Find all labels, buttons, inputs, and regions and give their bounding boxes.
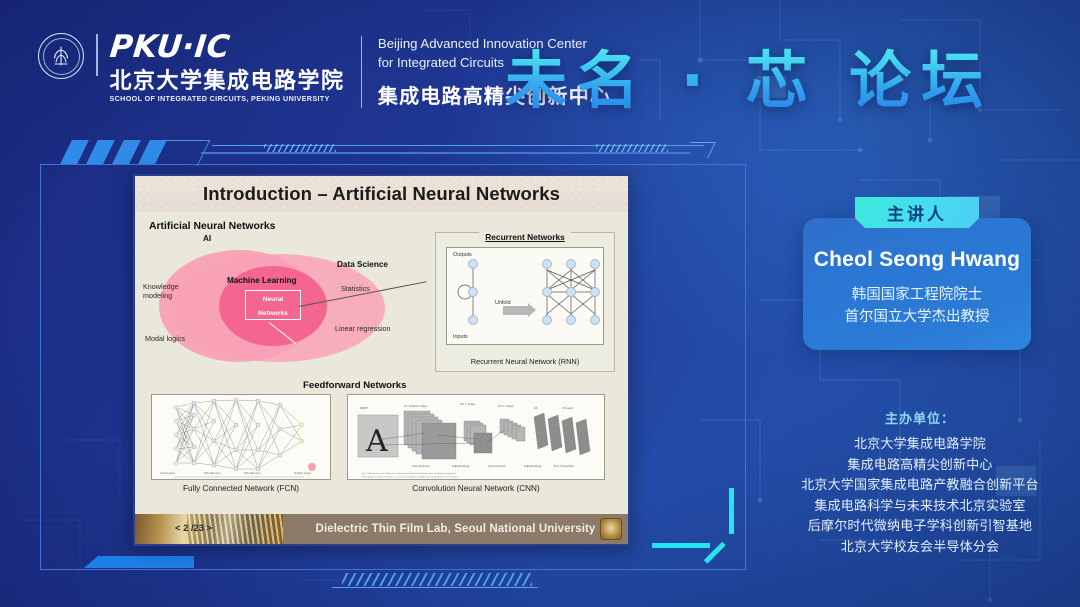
svg-text:Each plane is a feature map, i: Each plane is a feature map, i.e. a set … <box>362 476 459 479</box>
svg-text:Convolutions: Convolutions <box>488 464 506 468</box>
svg-text:500 Neurons: 500 Neurons <box>204 471 221 475</box>
slide-footer-lab-text: Dielectric Thin Film Lab, Seoul National… <box>316 523 596 535</box>
speaker-card: Cheol Seong Hwang 韩国国家工程院院士 首尔国立大学杰出教授 <box>803 218 1031 350</box>
slide-body: Artificial Neural Networks Neural Networ… <box>135 212 628 514</box>
forum-title-block: 未名 · 芯 论坛 <box>505 30 1005 112</box>
speaker-badge-label: 主讲人 <box>887 200 947 225</box>
fcn-caption: Fully Connected Network (FCN) <box>151 484 331 493</box>
snu-seal-icon <box>600 518 622 540</box>
rnn-figure: Outputs Inputs Unfold <box>446 247 604 345</box>
slide-title: Introduction – Artificial Neural Network… <box>203 183 560 205</box>
presentation-slide[interactable]: Introduction – Artificial Neural Network… <box>133 174 630 546</box>
venn-label-knowledge-modeling: Knowledge modeling <box>143 282 179 300</box>
recurrent-panel-title: Recurrent Networks <box>479 232 571 242</box>
svg-text:INPUT: INPUT <box>360 406 368 410</box>
svg-text:Input Layer: Input Layer <box>160 471 176 475</box>
poster-background: PKU·IC 北京大学集成电路学院 SCHOOL OF INTEGRATED C… <box>0 0 1080 607</box>
seal-glyph-icon <box>46 41 76 71</box>
venn-diagram: Neural Networks AI Data Science Machine … <box>141 236 429 366</box>
frame-bottom-hatch-outline <box>332 571 546 588</box>
svg-text:C5 layer: C5 layer <box>562 406 574 410</box>
slide-footer-image: < 2 /23 > <box>135 514 283 544</box>
venn-label-machine-learning: Machine Learning <box>227 276 297 286</box>
venn-label-nn-1: Neural <box>246 291 300 305</box>
svg-text:Subsampling: Subsampling <box>452 464 470 468</box>
cnn-figure: A <box>347 394 605 480</box>
svg-text:Full connection: Full connection <box>554 464 575 468</box>
speaker-name: Cheol Seong Hwang <box>803 248 1031 272</box>
frame-stripe-decoration <box>66 140 162 164</box>
frame-top-line <box>201 152 690 154</box>
frame-corner-bottom-right-accent <box>650 504 750 574</box>
svg-text:500 Neurons: 500 Neurons <box>244 471 261 475</box>
venn-label-modal-logics: Modal logics <box>145 334 185 343</box>
cnn-caption: Convolution Neural Network (CNN) <box>347 484 605 493</box>
forum-title-text: 未名 · 芯 论坛 <box>505 30 1005 120</box>
organizer-item: 北京大学国家集成电路产教融合创新平台 <box>780 475 1060 496</box>
venn-label-ai: AI <box>203 234 211 244</box>
organizers-heading: 主办单位： <box>780 408 1060 427</box>
speaker-titles: 韩国国家工程院院士 首尔国立大学杰出教授 <box>803 284 1031 329</box>
pkuic-brand-cn: 北京大学集成电路学院 <box>110 70 345 92</box>
svg-text:C3: f. maps: C3: f. maps <box>498 404 514 408</box>
svg-text:S2: f. maps: S2: f. maps <box>460 402 476 406</box>
frame-hatch-right <box>596 144 668 152</box>
venn-label-nn-2: Networks <box>246 305 300 319</box>
fcn-graph-svg: Input Layer Output Layer 500 Neurons 500… <box>152 395 330 479</box>
slide-footer-bar: Dielectric Thin Film Lab, Seoul National… <box>283 514 628 544</box>
rnn-graph-svg <box>447 248 607 338</box>
svg-text:Subsampling: Subsampling <box>524 464 542 468</box>
venn-box-neural-networks: Neural Networks <box>245 290 301 320</box>
slide-footer: < 2 /23 > Dielectric Thin Film Lab, Seou… <box>135 514 628 544</box>
svg-text:Fig. 2. Architecture of LeNet: Fig. 2. Architecture of LeNet-5, a Convo… <box>362 472 457 475</box>
cnn-graph-svg: A <box>348 395 604 479</box>
rnn-caption: Recurrent Neural Network (RNN) <box>436 357 614 366</box>
frame-hatch-left <box>264 144 336 152</box>
slide-title-band: Introduction – Artificial Neural Network… <box>135 176 628 212</box>
peking-university-seal-icon <box>38 33 84 79</box>
pkuic-brand-main: PKU·IC <box>108 32 346 63</box>
poster-header: PKU·IC 北京大学集成电路学院 SCHOOL OF INTEGRATED C… <box>0 0 1080 130</box>
venn-label-statistics: Statistics <box>341 284 370 293</box>
speaker-title-line1: 韩国国家工程院院士 <box>852 287 983 303</box>
pkuic-brand-en: SCHOOL OF INTEGRATED CIRCUITS, PEKING UN… <box>110 95 345 102</box>
recurrent-panel-title-wrap: Recurrent Networks <box>436 227 614 245</box>
svg-text:S4: S4 <box>534 406 538 410</box>
frame-corner-bottom-left-accent <box>84 556 194 568</box>
fcn-figure: Input Layer Output Layer 500 Neurons 500… <box>151 394 331 480</box>
venn-km-line1: Knowledge <box>143 282 179 291</box>
header-vertical-divider <box>361 36 362 108</box>
svg-text:C1: feature maps: C1: feature maps <box>404 404 428 408</box>
organizer-item: 北京大学校友会半导体分会 <box>780 537 1060 558</box>
organizers-block: 主办单位： 北京大学集成电路学院 集成电路高精尖创新中心 北京大学国家集成电路产… <box>780 408 1060 557</box>
recurrent-networks-panel: Recurrent Networks Outputs Inputs Unfold <box>435 232 615 372</box>
svg-text:Convolutions: Convolutions <box>412 464 430 468</box>
pkuic-wordmark: PKU·IC 北京大学集成电路学院 SCHOOL OF INTEGRATED C… <box>110 32 345 102</box>
speaker-title-line2: 首尔国立大学杰出教授 <box>845 309 990 325</box>
venn-label-data-science: Data Science <box>337 260 388 270</box>
venn-km-line2: modeling <box>143 291 172 300</box>
svg-text:Output Layer: Output Layer <box>294 471 312 475</box>
organizer-item: 北京大学集成电路学院 <box>780 434 1060 455</box>
feedforward-heading: Feedforward Networks <box>303 380 406 391</box>
rnn-unfold-arrow-icon <box>503 306 529 315</box>
organizer-item: 集成电路高精尖创新中心 <box>780 455 1060 476</box>
logo-divider <box>96 34 98 76</box>
speaker-badge: 主讲人 <box>855 197 979 228</box>
organizer-item: 后摩尔时代微纳电子学科创新引智基地 <box>780 516 1060 537</box>
venn-label-linear-regression: Linear regression <box>335 324 391 333</box>
slide-page-indicator[interactable]: < 2 /23 > <box>175 522 212 533</box>
organizer-item: 集成电路科学与未来技术北京实验室 <box>780 496 1060 517</box>
cnn-input-letter: A <box>365 424 388 459</box>
